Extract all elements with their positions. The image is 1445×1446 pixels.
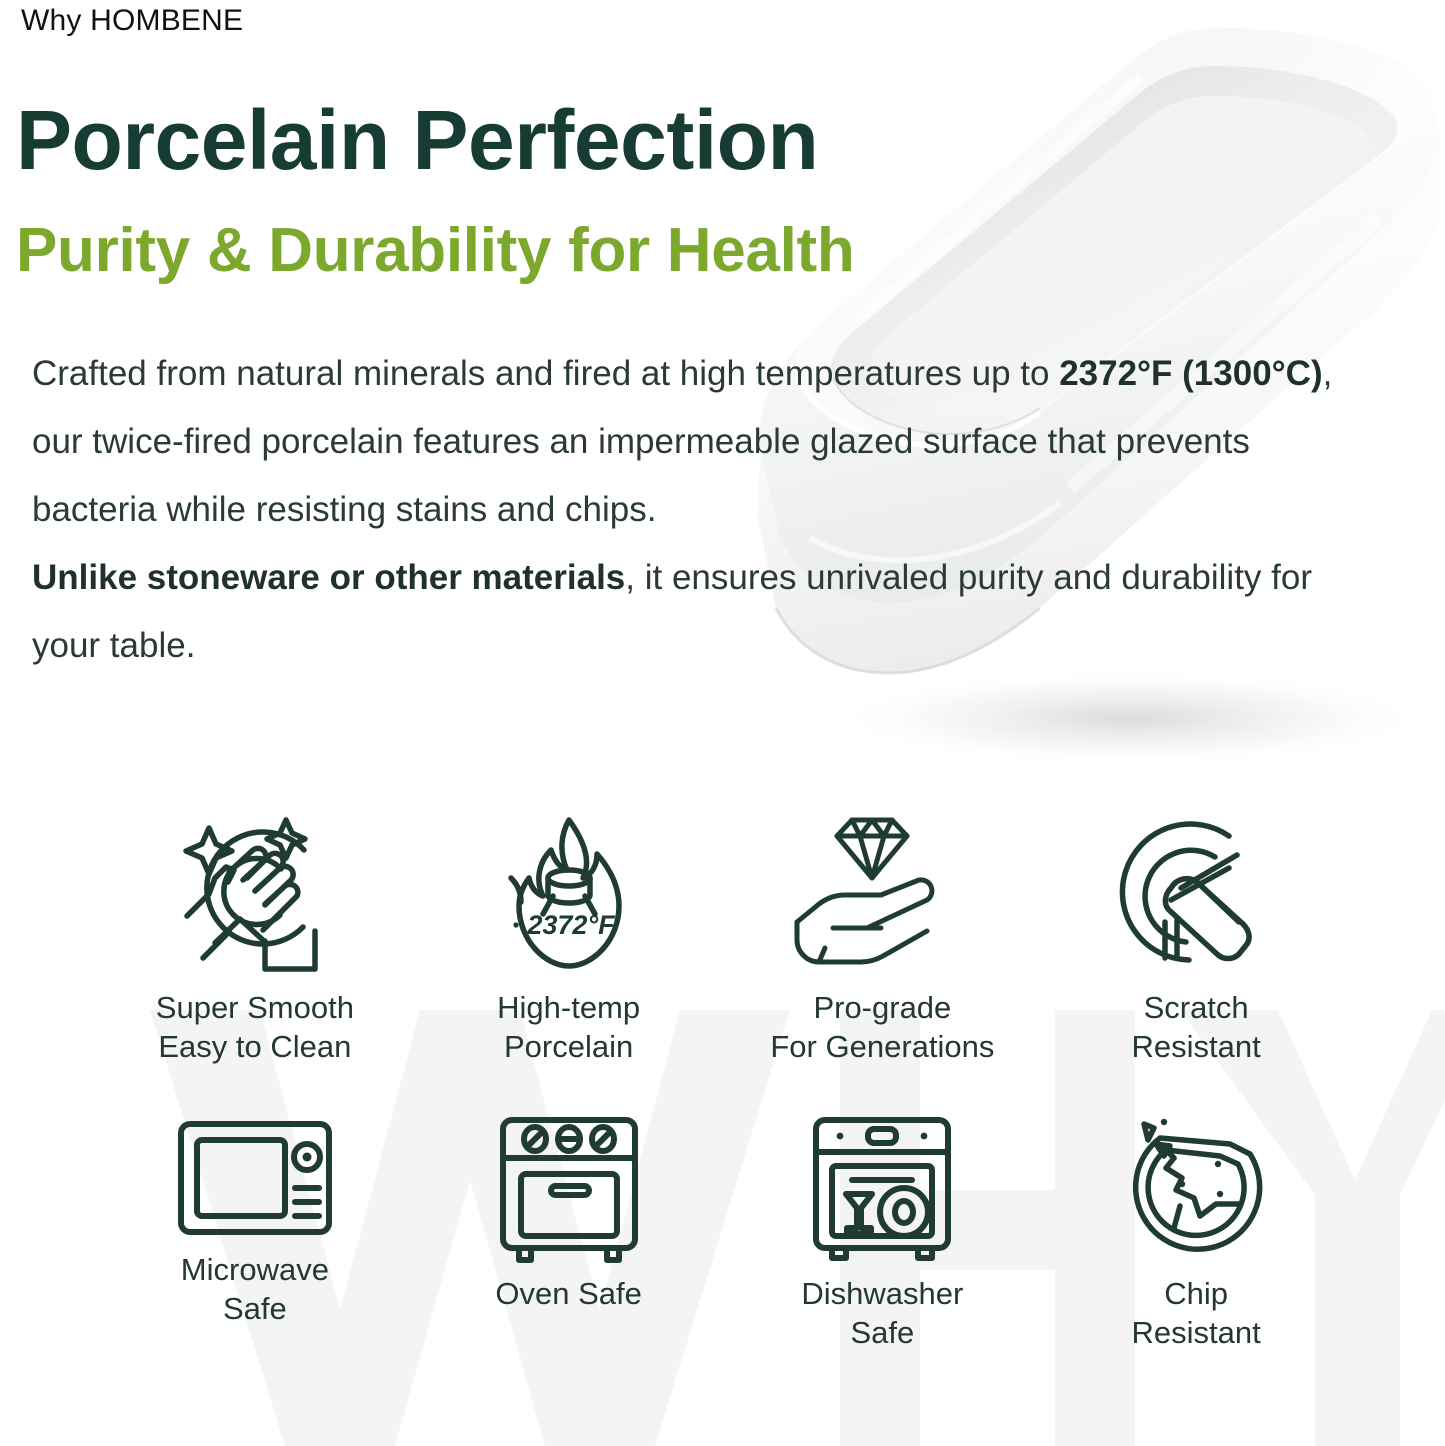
oven-icon xyxy=(412,1114,726,1266)
feature-microwave-safe: Microwave Safe xyxy=(98,1114,412,1306)
feature-label: Chip Resistant xyxy=(1132,1274,1261,1352)
body-paragraph-2: Unlike stoneware or other materials, it … xyxy=(32,544,1377,680)
feature-label: Scratch Resistant xyxy=(1132,988,1261,1066)
page-title: Porcelain Perfection xyxy=(16,92,818,188)
feature-label: Dishwasher Safe xyxy=(801,1274,963,1352)
infographic-page: Why HOMBENE Porcelain Perfection Purity … xyxy=(0,0,1445,1446)
brand-line: Why HOMBENE xyxy=(21,2,243,40)
temperature-highlight: 2372°F (1300°C) xyxy=(1059,354,1322,393)
chipped-plate-icon xyxy=(1039,1114,1353,1266)
flame-badge-text: 2372°F xyxy=(526,910,616,940)
feature-scratch-resistant: Scratch Resistant xyxy=(1039,812,1353,1004)
diamond-in-hand-icon xyxy=(726,812,1040,980)
feature-dishwasher-safe: Dishwasher Safe xyxy=(726,1114,1040,1306)
feature-label: Microwave Safe xyxy=(181,1250,329,1328)
body-paragraph-1: Crafted from natural minerals and fired … xyxy=(32,340,1377,544)
dishwasher-icon xyxy=(726,1114,1040,1266)
hand-wiping-sparkle-icon xyxy=(98,812,412,980)
feature-super-smooth: Super Smooth Easy to Clean xyxy=(98,812,412,1004)
flame-temperature-icon: 2372°F xyxy=(412,812,726,980)
feature-oven-safe: Oven Safe xyxy=(412,1114,726,1306)
feature-label: Pro-grade For Generations xyxy=(770,988,994,1066)
feature-pro-grade: Pro-grade For Generations xyxy=(726,812,1040,1004)
feature-grid: Super Smooth Easy to Clean 2372°F High-t… xyxy=(98,812,1353,1306)
feature-label: High-temp Porcelain xyxy=(497,988,640,1066)
comparison-highlight: Unlike stoneware or other materials xyxy=(32,558,625,597)
microwave-icon xyxy=(98,1114,412,1242)
feature-chip-resistant: Chip Resistant xyxy=(1039,1114,1353,1306)
body-copy: Crafted from natural minerals and fired … xyxy=(32,340,1377,680)
page-subtitle: Purity & Durability for Health xyxy=(16,213,854,289)
body-p1-part1: Crafted from natural minerals and fired … xyxy=(32,354,1059,393)
feature-label: Oven Safe xyxy=(495,1274,641,1313)
feature-high-temp: 2372°F High-temp Porcelain xyxy=(412,812,726,1004)
knife-over-plate-icon xyxy=(1039,812,1353,980)
feature-label: Super Smooth Easy to Clean xyxy=(156,988,354,1066)
